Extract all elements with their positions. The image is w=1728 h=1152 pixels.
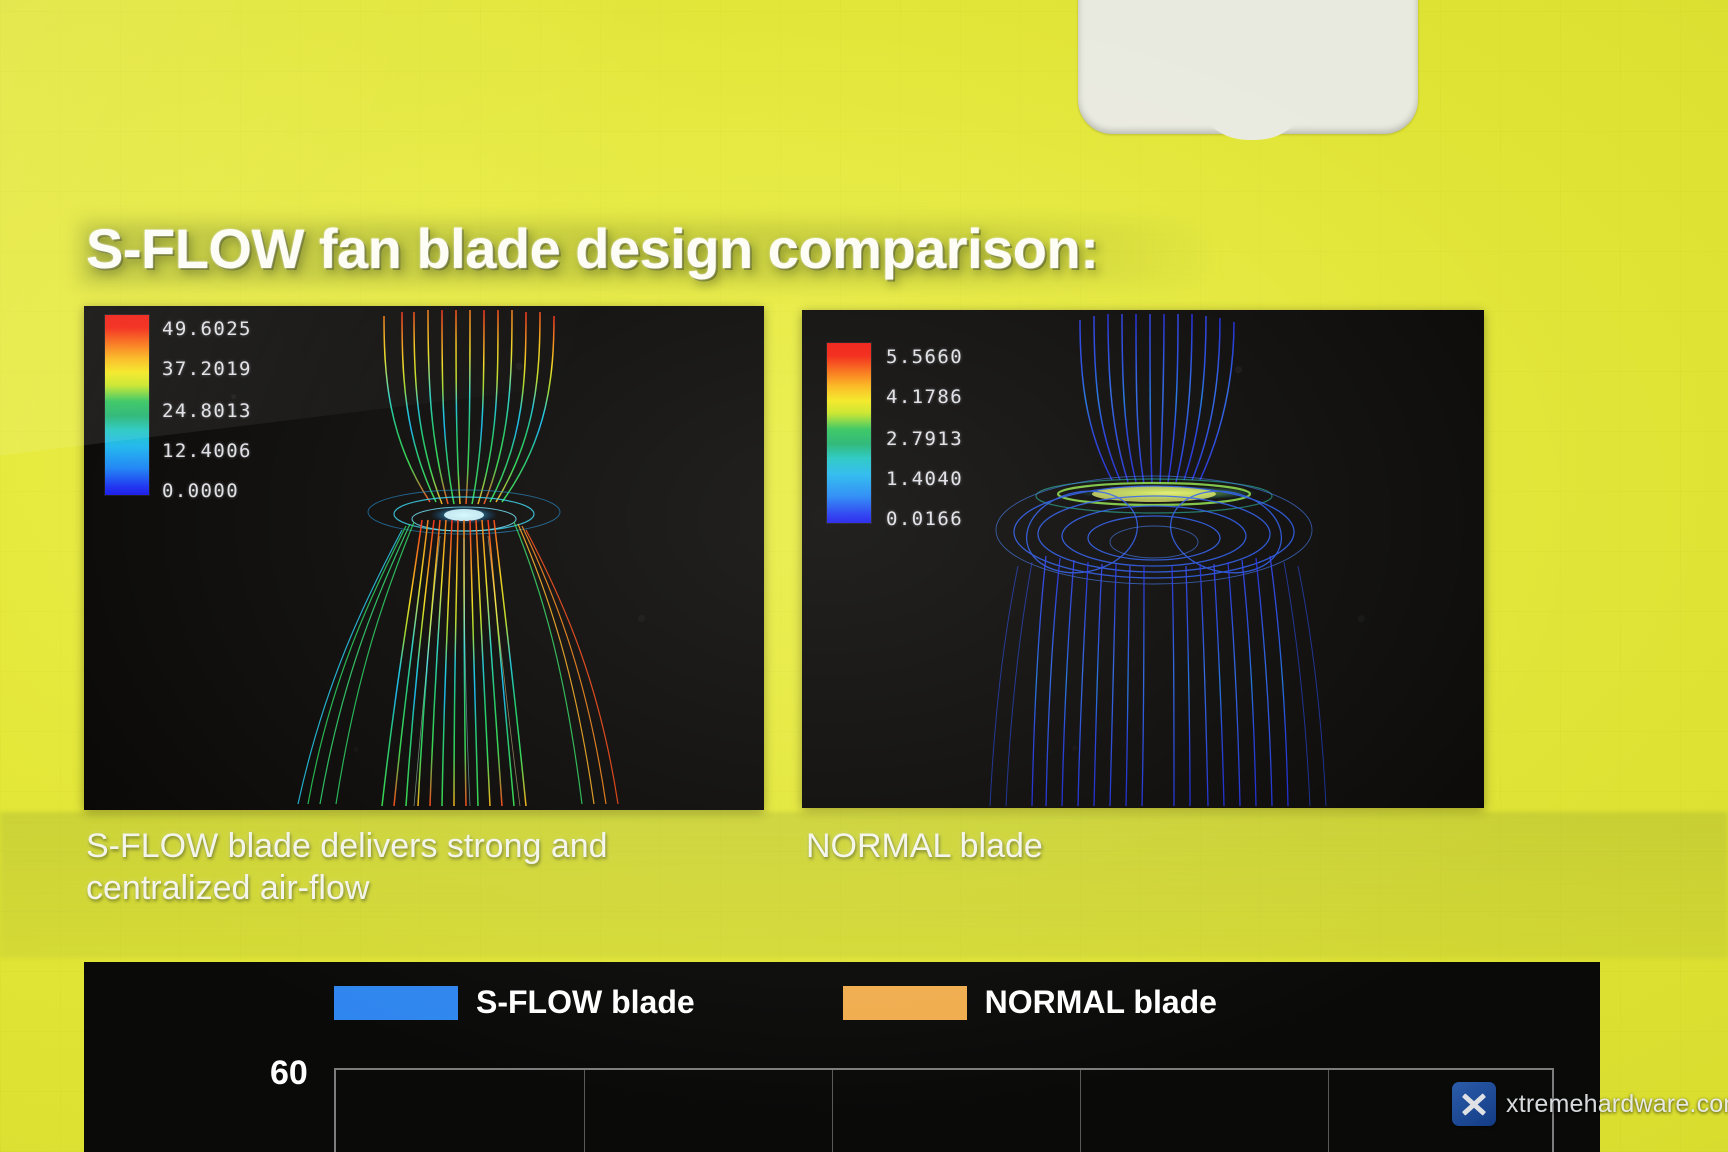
legend-label-sflow: S-FLOW blade	[476, 984, 695, 1021]
colorbar-label-1: 4.1786	[886, 386, 963, 408]
y-axis-tick-60: 60	[270, 1054, 308, 1093]
watermark: xtremehardware.com	[1452, 1082, 1728, 1126]
chart-gridline	[832, 1070, 833, 1152]
colorbar-gradient	[104, 314, 150, 496]
page-title: S-FLOW fan blade design comparison:	[86, 216, 1266, 281]
caption-normal: NORMAL blade	[806, 826, 1366, 868]
chart-gridline	[584, 1070, 585, 1152]
colorbar-label-2: 2.7913	[886, 428, 963, 450]
colorbar-label-1: 37.2019	[162, 358, 252, 380]
caption-sflow: S-FLOW blade delivers strong and central…	[86, 826, 746, 910]
colorbar-label-0: 49.6025	[162, 318, 252, 340]
colorbar-label-2: 24.8013	[162, 400, 252, 422]
legend-entry-sflow: S-FLOW blade	[334, 984, 695, 1021]
chart-gridline	[1080, 1070, 1081, 1152]
cfd-panel-normal: 5.5660 4.1786 2.7913 1.4040 0.0166	[802, 310, 1484, 808]
performance-chart: S-FLOW blade NORMAL blade 60	[84, 962, 1600, 1152]
colorbar-label-3: 12.4006	[162, 440, 252, 462]
x-logo-icon	[1452, 1082, 1496, 1126]
legend-label-normal: NORMAL blade	[985, 984, 1217, 1021]
chart-gridline	[1328, 1070, 1329, 1152]
legend-swatch-normal	[843, 986, 967, 1020]
colorbar-label-0: 5.5660	[886, 346, 963, 368]
colorbar-gradient	[826, 342, 872, 524]
streamline-visualization-normal	[802, 310, 1484, 808]
chart-legend: S-FLOW blade NORMAL blade	[334, 984, 1217, 1021]
legend-swatch-sflow	[334, 986, 458, 1020]
colorbar-label-4: 0.0166	[886, 508, 963, 530]
streamline-visualization-sflow	[84, 306, 764, 810]
colorbar-label-4: 0.0000	[162, 480, 239, 502]
hang-hole-slot	[1192, 28, 1312, 140]
watermark-text: xtremehardware.com	[1506, 1090, 1728, 1119]
colorbar-label-3: 1.4040	[886, 468, 963, 490]
cfd-panel-sflow: 49.6025 37.2019 24.8013 12.4006 0.0000	[84, 306, 764, 810]
chart-plot-area	[334, 1068, 1554, 1152]
legend-entry-normal: NORMAL blade	[843, 984, 1217, 1021]
